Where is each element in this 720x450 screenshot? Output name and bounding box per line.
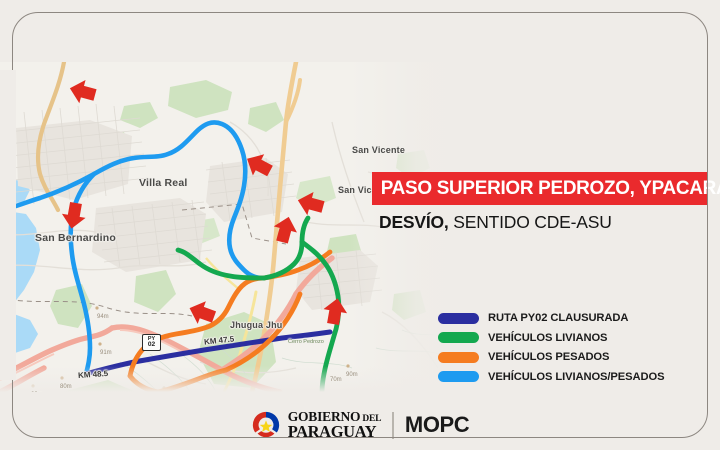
agency-logo-mopc: MOPC — [405, 412, 469, 438]
legend-swatch-vehiculos-livianos-pesados — [438, 371, 479, 382]
legend-item-vehiculos-livianos-pesados[interactable]: VEHÍCULOS LIVIANOS/PESADOS — [438, 368, 664, 386]
route-shield-py02: PY 02 — [142, 334, 161, 351]
legend-label: VEHÍCULOS LIVIANOS — [488, 332, 607, 344]
subtitle-bold: DESVÍO, — [379, 212, 449, 232]
gobierno-text: GOBIERNO — [288, 410, 361, 423]
legend-label: RUTA PY02 CLAUSURADA — [488, 312, 628, 324]
map-elevation-label: 94m — [97, 314, 109, 320]
map-area-label: Cerro Pedrozo — [288, 339, 324, 345]
map-place-label: San Vicente — [352, 145, 405, 155]
legend-swatch-ruta-clausurada — [438, 313, 479, 324]
legend: RUTA PY02 CLAUSURADA VEHÍCULOS LIVIANOS … — [438, 309, 664, 387]
footer: GOBIERNODEL PARAGUAY MOPC — [0, 402, 720, 448]
legend-label: VEHÍCULOS PESADOS — [488, 351, 609, 363]
map-place-label: Villa Real — [139, 177, 188, 189]
map-place-label: San Bernardino — [35, 232, 116, 244]
map-elevation-label: 90m — [346, 372, 358, 378]
title-banner: PASO SUPERIOR PEDROZO, YPACARAÍ — [372, 172, 708, 205]
paraguay-government-emblem-icon — [251, 410, 281, 440]
direction-arrow — [295, 189, 326, 219]
map-elevation-label: 80m — [60, 384, 72, 390]
direction-arrow — [241, 148, 275, 181]
legend-swatch-vehiculos-livianos — [438, 332, 479, 343]
direction-arrow — [185, 297, 218, 328]
direction-arrow — [67, 77, 98, 107]
footer-divider — [392, 412, 394, 439]
legend-label: VEHÍCULOS LIVIANOS/PESADOS — [488, 371, 664, 383]
map-elevation-label: 91m — [100, 350, 112, 356]
direction-arrow — [270, 214, 300, 245]
map-place-label: Jhugua Jhu — [230, 320, 283, 330]
shield-bottom-text: 02 — [148, 342, 155, 349]
legend-item-vehiculos-livianos[interactable]: VEHÍCULOS LIVIANOS — [438, 329, 664, 347]
government-wordmark: GOBIERNODEL PARAGUAY — [288, 410, 382, 441]
legend-item-vehiculos-pesados[interactable]: VEHÍCULOS PESADOS — [438, 348, 664, 366]
legend-swatch-vehiculos-pesados — [438, 352, 479, 363]
infographic-root: San Vicente San Vicente Villa Real San B… — [0, 0, 720, 450]
legend-item-ruta-clausurada[interactable]: RUTA PY02 CLAUSURADA — [438, 309, 664, 327]
direction-arrow — [60, 201, 88, 231]
page-title: PASO SUPERIOR PEDROZO, YPACARAÍ — [372, 177, 720, 200]
paraguay-text: PARAGUAY — [288, 424, 382, 440]
subtitle: DESVÍO, SENTIDO CDE-ASU — [379, 212, 612, 233]
subtitle-light: SENTIDO CDE-ASU — [449, 212, 612, 232]
map-elevation-label: 70m — [330, 377, 342, 383]
direction-arrow — [321, 296, 349, 326]
